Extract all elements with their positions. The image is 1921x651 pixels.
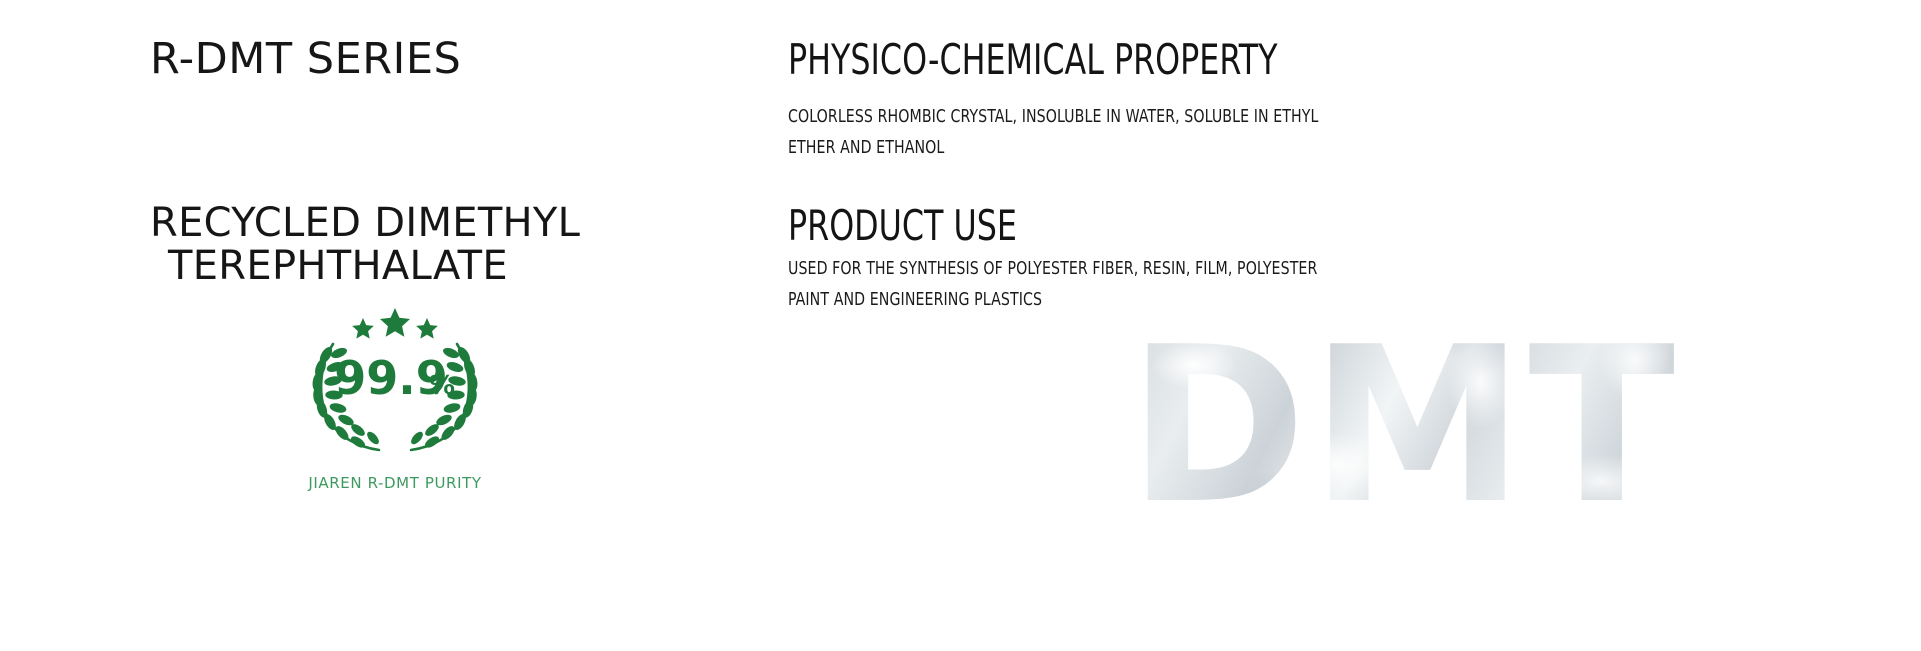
left-column: R-DMT SERIES RECYCLED DIMETHYL TEREPHTHA… bbox=[150, 0, 770, 651]
star-small-left bbox=[352, 318, 374, 339]
physico-chemical-body-line-2: ETHER AND ETHANOL bbox=[788, 133, 1454, 164]
purity-unit: % bbox=[429, 371, 455, 401]
right-column: PHYSICO-CHEMICAL PROPERTY COLORLESS RHOM… bbox=[788, 0, 1488, 651]
purity-badge: 99.9 % JIAREN R-DMT PURITY bbox=[285, 306, 505, 492]
laurel-wreath-icon: 99.9 % bbox=[305, 306, 485, 456]
physico-chemical-body: COLORLESS RHOMBIC CRYSTAL, INSOLUBLE IN … bbox=[788, 102, 1454, 164]
purity-caption: JIAREN R-DMT PURITY bbox=[285, 474, 505, 492]
star-large-center bbox=[380, 308, 410, 337]
series-title: R-DMT SERIES bbox=[150, 36, 461, 83]
physico-chemical-heading: PHYSICO-CHEMICAL PROPERTY bbox=[788, 38, 1410, 82]
section-physico-chemical-property: PHYSICO-CHEMICAL PROPERTY COLORLESS RHOM… bbox=[788, 38, 1528, 164]
product-name-line-1: RECYCLED DIMETHYL bbox=[150, 202, 750, 245]
star-small-right bbox=[416, 318, 438, 339]
product-name: RECYCLED DIMETHYL TEREPHTHALATE bbox=[150, 202, 750, 288]
product-info-page: R-DMT SERIES RECYCLED DIMETHYL TEREPHTHA… bbox=[0, 0, 1921, 651]
product-use-heading: PRODUCT USE bbox=[788, 204, 1410, 248]
product-name-line-2: TEREPHTHALATE bbox=[168, 245, 750, 288]
dmt-watermark: DMT bbox=[1128, 318, 1679, 533]
product-use-body-line-1: USED FOR THE SYNTHESIS OF POLYESTER FIBE… bbox=[788, 254, 1454, 285]
physico-chemical-body-line-1: COLORLESS RHOMBIC CRYSTAL, INSOLUBLE IN … bbox=[788, 102, 1454, 133]
